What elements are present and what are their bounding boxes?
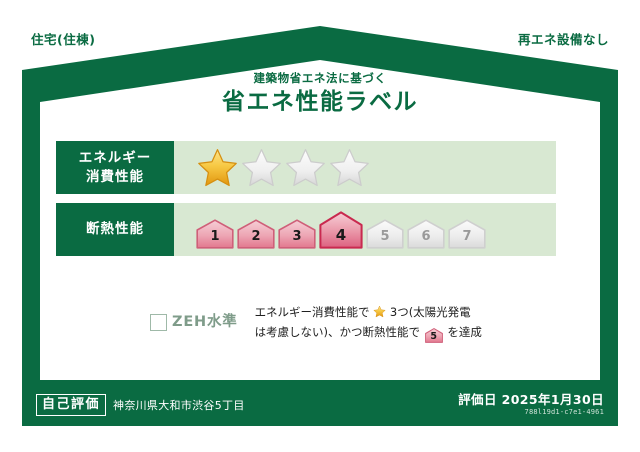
self-evaluation-badge: 自己評価: [36, 394, 106, 416]
row-insulation-performance-body: 1 2 3: [174, 203, 556, 256]
row-energy-performance: エネルギー 消費性能: [56, 141, 556, 194]
zeh-description-line1: エネルギー消費性能で 3つ(太陽光発電: [255, 302, 482, 322]
row-insulation-performance: 断熱性能: [56, 203, 556, 256]
star-icon-empty: [240, 147, 283, 188]
evaluation-id: 788l19d1-c7e1-4961: [458, 408, 604, 417]
insulation-grade-7: 7: [448, 219, 486, 249]
zeh-desc-line2-text-b: を達成: [447, 325, 482, 339]
insulation-grade-7-label: 7: [462, 230, 471, 249]
zeh-desc-line2-text-a: は考慮しない)、かつ断熱性能で: [255, 325, 421, 339]
row-energy-label-line1: エネルギー: [79, 149, 152, 167]
title-block: 建築物省エネ法に基づく 省エネ性能ラベル: [0, 72, 640, 117]
badge-building-type: 住宅(住棟): [22, 28, 104, 54]
insulation-grade-4-selected: 4: [319, 211, 363, 249]
checkbox-icon: [150, 314, 167, 331]
insulation-grade-2: 2: [237, 219, 275, 249]
star-icon-empty: [328, 147, 371, 188]
insulation-grade-inline: 5: [425, 328, 443, 343]
insulation-grade-4-label: 4: [336, 228, 346, 249]
insulation-grade-3: 3: [278, 219, 316, 249]
star-icon-inline: [373, 305, 386, 318]
insulation-grade-3-label: 3: [292, 230, 301, 249]
row-insulation-performance-label: 断熱性能: [56, 203, 174, 256]
star-icon-filled: [196, 147, 239, 188]
footer-right: 評価日 2025年1月30日 788l19d1-c7e1-4961: [458, 392, 604, 417]
star-rating: [196, 147, 371, 188]
insulation-grade-6: 6: [407, 219, 445, 249]
badge-renewable-energy: 再エネ設備なし: [509, 28, 618, 54]
badge-building-type-label: 住宅(住棟): [31, 32, 95, 47]
insulation-grade-2-label: 2: [251, 230, 260, 249]
insulation-grade-scale: 1 2 3: [196, 211, 486, 249]
property-address: 神奈川県大和市渋谷5丁目: [113, 400, 245, 411]
star-icon-empty: [284, 147, 327, 188]
row-energy-label-line2: 消費性能: [79, 168, 152, 186]
footer-left: 自己評価 神奈川県大和市渋谷5丁目: [36, 394, 245, 416]
zeh-standard-tag: ZEH水準: [150, 314, 238, 331]
insulation-grade-6-label: 6: [421, 230, 430, 249]
zeh-description-line2: は考慮しない)、かつ断熱性能で 5 を達成: [255, 322, 482, 343]
insulation-grade-1-label: 1: [210, 230, 219, 249]
badge-renewable-energy-label: 再エネ設備なし: [518, 32, 609, 47]
evaluation-date: 評価日 2025年1月30日: [458, 392, 604, 407]
performance-rows: エネルギー 消費性能: [56, 141, 556, 265]
insulation-grade-inline-label: 5: [425, 328, 443, 345]
zeh-desc-line1-text-a: エネルギー消費性能で: [255, 305, 370, 319]
zeh-desc-line1-text-b: 3つ(太陽光発電: [390, 305, 471, 319]
page-title: 省エネ性能ラベル: [0, 88, 640, 117]
zeh-standard-label: ZEH水準: [172, 315, 238, 330]
insulation-grade-1: 1: [196, 219, 234, 249]
insulation-grade-5-label: 5: [380, 230, 389, 249]
footer: 自己評価 神奈川県大和市渋谷5丁目 評価日 2025年1月30日 788l19d…: [22, 384, 618, 426]
energy-performance-label: 住宅(住棟) 再エネ設備なし 建築物省エネ法に基づく 省エネ性能ラベル エネルギ…: [0, 0, 640, 452]
title-subtitle: 建築物省エネ法に基づく: [0, 72, 640, 86]
zeh-description: エネルギー消費性能で 3つ(太陽光発電 は考慮しない)、かつ断熱性能で 5 を達…: [255, 302, 482, 343]
insulation-grade-5: 5: [366, 219, 404, 249]
row-energy-performance-body: [174, 141, 556, 194]
row-energy-performance-label: エネルギー 消費性能: [56, 141, 174, 194]
zeh-standard-block: ZEH水準 エネルギー消費性能で 3つ(太陽光発電 は考慮しない)、かつ断熱性能…: [150, 302, 482, 343]
